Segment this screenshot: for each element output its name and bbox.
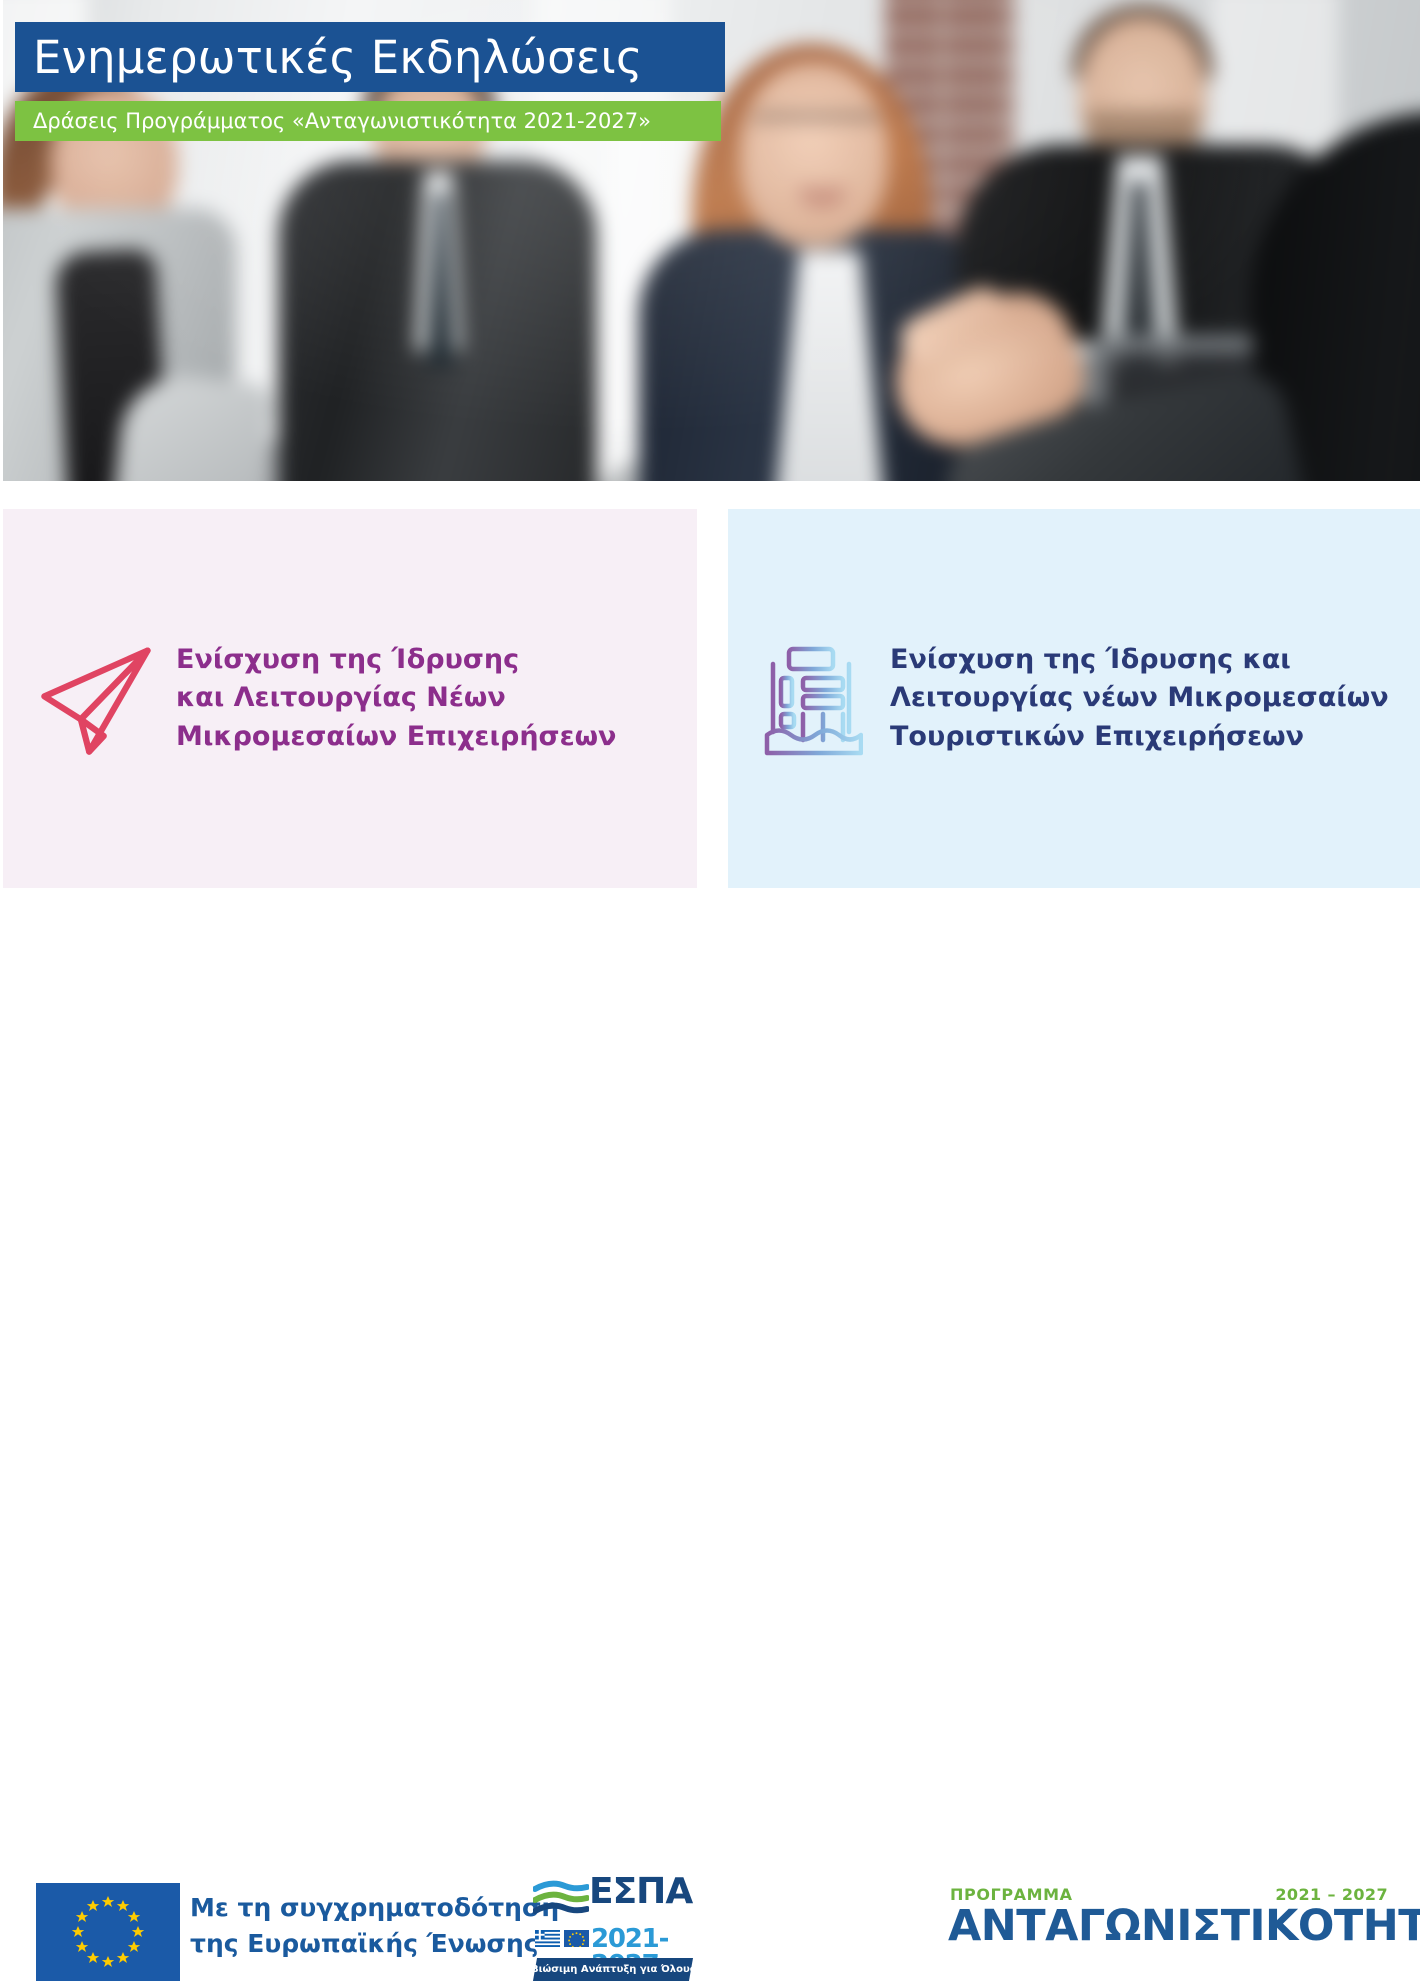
programme-card-tourism[interactable]: Ενίσχυση της Ίδρυσης και Λειτουργίας νέω… [728,509,1420,888]
eu-text-line: Με τη συγχρηματοδότηση [190,1890,559,1926]
banner-title-bar: Ενημερωτικές Εκδηλώσεις [15,22,725,92]
programme-logo: ΠΡΟΓΡΑΜΜΑ 2021 – 2027 ΑΝΤΑΓΩΝΙΣΤΙΚΟΤΗΤΑ [948,1885,1388,1975]
programme-card-smes[interactable]: Ενίσχυση της Ίδρυσης και Λειτουργίας Νέω… [3,509,697,888]
footer: Με τη συγχρηματοδότηση της Ευρωπαϊκής Έν… [0,930,1420,1070]
european-union-flag-icon [36,1883,180,1981]
hero-banner: Ενημερωτικές Εκδηλώσεις Δράσεις Προγράμμ… [3,0,1420,481]
espa-tagline: Βιώσιμη Ανάπτυξη για Όλους [531,1964,696,1975]
card-line: και Λειτουργίας Νέων [176,679,616,717]
card-line: Μικρομεσαίων Επιχειρήσεων [176,718,616,756]
eu-text-line: της Ευρωπαϊκής Ένωσης [190,1926,559,1962]
espa-tagline-band: Βιώσιμη Ανάπτυξη για Όλους [533,1958,693,1981]
card-line: Λειτουργίας νέων Μικρομεσαίων [890,679,1389,717]
card-text-tourism: Ενίσχυση της Ίδρυσης και Λειτουργίας νέω… [890,641,1389,756]
banner-subtitle-bar: Δράσεις Προγράμματος «Ανταγωνιστικότητα … [15,101,721,141]
espa-flag-row [535,1930,589,1947]
espa-wordmark: ΕΣΠΑ [589,1874,692,1910]
card-text-smes: Ενίσχυση της Ίδρυσης και Λειτουργίας Νέω… [176,641,616,756]
espa-wordmark-row: ΕΣΠΑ [533,1876,693,1924]
card-line: Ενίσχυση της Ίδρυσης [176,641,616,679]
paper-plane-icon [25,636,170,761]
card-line: Ενίσχυση της Ίδρυσης και [890,641,1389,679]
espa-waves-icon [533,1880,589,1922]
programme-label: ΠΡΟΓΡΑΜΜΑ [950,1885,1073,1904]
programme-years: 2021 – 2027 [1275,1885,1388,1904]
greek-flag-icon [535,1930,560,1947]
page-title: Ενημερωτικές Εκδηλώσεις [33,35,643,80]
programme-name: ΑΝΤΑΓΩΝΙΣΤΙΚΟΤΗΤΑ [948,1905,1420,1948]
eu-cofinancing-text: Με τη συγχρηματοδότηση της Ευρωπαϊκής Έν… [190,1890,559,1961]
page-subtitle: Δράσεις Προγράμματος «Ανταγωνιστικότητα … [33,111,651,132]
card-line: Τουριστικών Επιχειρήσεων [890,718,1389,756]
espa-logo: ΕΣΠΑ [533,1876,693,1984]
building-hotel-icon [746,640,876,758]
eu-flag-icon [564,1930,589,1947]
